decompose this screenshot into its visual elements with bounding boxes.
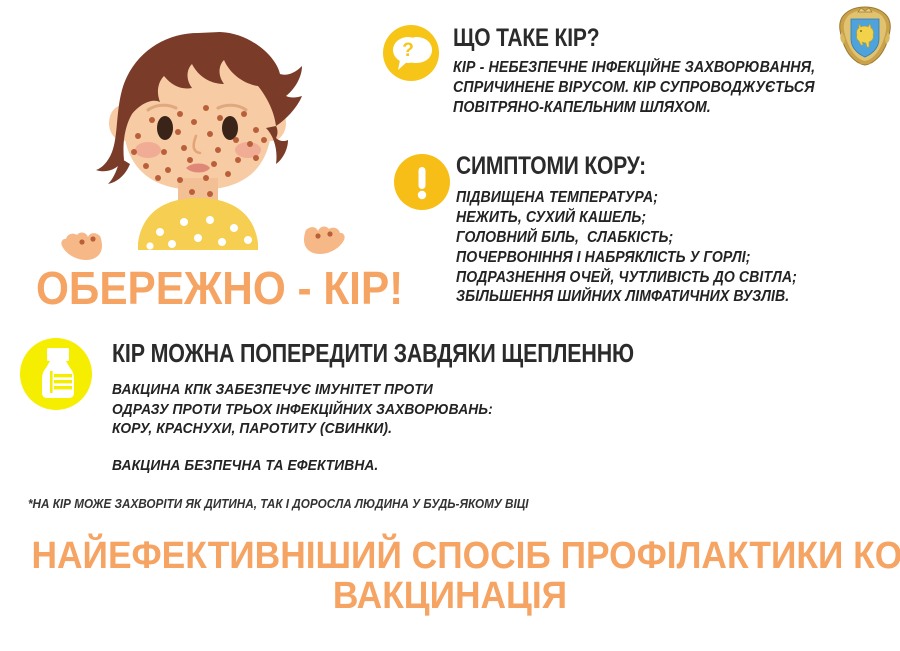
question-speech-bubble-icon: ? <box>383 25 439 81</box>
coat-of-arms-icon <box>838 6 892 66</box>
left-hand <box>61 233 102 260</box>
call-to-action-line-1: НАЙЕФЕКТИВНІШИЙ СПОСІБ ПРОФІЛАКТИКИ КОРУ… <box>32 536 869 576</box>
measles-awareness-poster: ? ЩО ТАКЕ КІР? КІР - НЕБЕЗПЕЧНЕ ІНФЕКЦІЙ… <box>0 0 900 651</box>
right-hand <box>304 227 345 254</box>
section-body-vaccination-safe: ВАКЦИНА БЕЗПЕЧНА ТА ЕФЕКТИВНА. <box>112 456 378 476</box>
warning-headline: ОБЕРЕЖНО - КІР! <box>36 261 403 315</box>
svg-text:?: ? <box>402 40 414 61</box>
section-body-vaccination: ВАКЦИНА КПК ЗАБЕЗПЕЧУЄ ІМУНІТЕТ ПРОТИ ОД… <box>112 380 493 439</box>
vaccine-bottle-icon <box>20 338 92 410</box>
exclamation-mark-icon <box>394 154 450 210</box>
section-body-what-is-measles: КІР - НЕБЕЗПЕЧНЕ ІНФЕКЦІЙНЕ ЗАХВОРЮВАННЯ… <box>453 58 815 118</box>
section-body-symptoms: ПІДВИЩЕНА ТЕМПЕРАТУРА; НЕЖИТЬ, СУХИЙ КАШ… <box>456 188 797 307</box>
child-illustration <box>60 18 350 273</box>
call-to-action: НАЙЕФЕКТИВНІШИЙ СПОСІБ ПРОФІЛАКТИКИ КОРУ… <box>0 536 900 617</box>
call-to-action-line-2: ВАКЦИНАЦІЯ <box>32 576 869 616</box>
section-heading-symptoms: СИМПТОМИ КОРУ: <box>456 152 646 181</box>
section-heading-what-is-measles: ЩО ТАКЕ КІР? <box>453 24 599 53</box>
section-heading-vaccination: КІР МОЖНА ПОПЕРЕДИТИ ЗАВДЯКИ ЩЕПЛЕННЮ <box>112 340 634 369</box>
footnote-text: *НА КІР МОЖЕ ЗАХВОРІТИ ЯК ДИТИНА, ТАК І … <box>28 496 529 511</box>
